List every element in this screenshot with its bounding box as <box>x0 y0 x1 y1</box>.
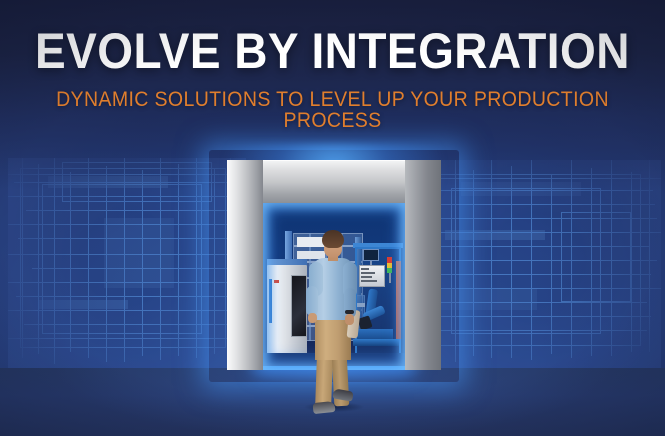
person-hand-right <box>345 314 354 325</box>
page-title: EVOLVE BY INTEGRATION <box>27 26 639 76</box>
marketing-banner: EVOLVE BY INTEGRATION DYNAMIC SOLUTIONS … <box>0 0 665 436</box>
banner-text-block: EVOLVE BY INTEGRATION DYNAMIC SOLUTIONS … <box>0 26 665 131</box>
page-subtitle: DYNAMIC SOLUTIONS TO LEVEL UP YOUR PRODU… <box>23 89 641 131</box>
person-shoe-left <box>312 401 335 414</box>
person-hair <box>322 230 344 248</box>
portal-frame-right <box>405 160 441 370</box>
person-arm-left <box>306 286 318 316</box>
portal-frame-left <box>227 160 263 370</box>
man-walking-through-doorway <box>303 230 363 412</box>
person-hand-left <box>308 313 317 323</box>
